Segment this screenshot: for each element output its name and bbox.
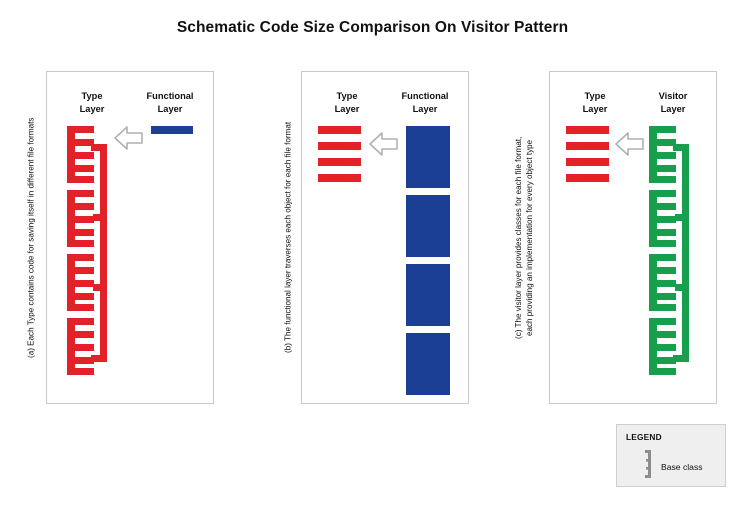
diagram-canvas: Schematic Code Size Comparison On Visito… [0,0,745,512]
panel-b-stage [302,72,468,403]
legend-row: Base class [645,449,703,484]
flow-arrow-icon [616,133,643,155]
panel-a-stage [47,72,213,403]
panel-c: Type Layer Visitor Layer [549,71,717,404]
panel-c-stage [550,72,716,403]
legend-box: LEGEND Base class [616,424,726,487]
type-layer-bars [318,126,361,182]
flow-arrow-icon [370,133,397,155]
flow-arrow-icon [115,127,142,149]
panel-a-caption: (a) Each Type contains code for saving i… [21,71,43,404]
panel-b: Type Layer Functional Layer [301,71,469,404]
functional-layer-blocks [406,126,450,395]
legend-title: LEGEND [626,432,662,442]
base-class-bracket-icon [645,449,654,484]
panel-b-caption: (b) The functional layer traverses each … [278,71,300,404]
panel-a: Type Layer Functional Layer [46,71,214,404]
type-layer-comb [67,126,94,375]
page-title: Schematic Code Size Comparison On Visito… [0,19,745,37]
functional-layer-blocks [151,126,193,134]
type-layer-bars [566,126,609,182]
legend-label: Base class [661,462,703,472]
panel-c-caption: (c) The visitor layer provides classes f… [508,71,542,404]
visitor-layer-comb [649,126,676,375]
